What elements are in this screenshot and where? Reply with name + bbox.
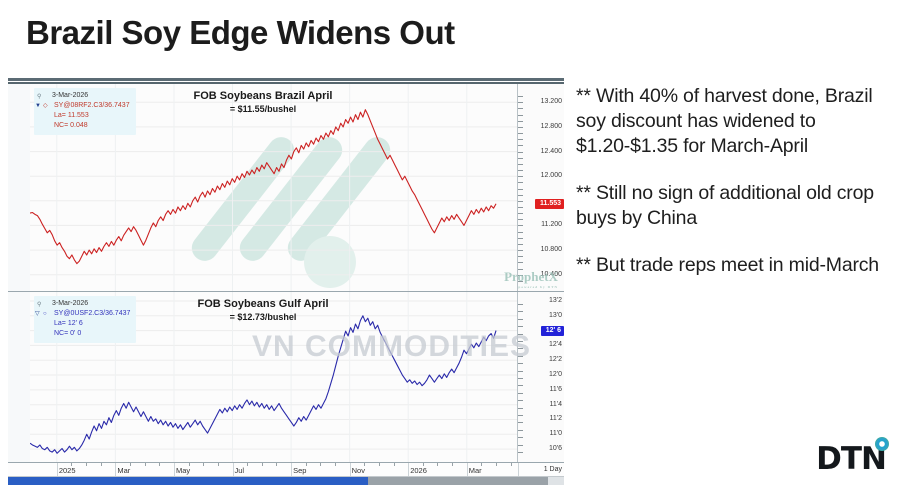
x-minor-tick bbox=[130, 463, 131, 466]
y-axis-gulf[interactable]: 13'213'012'412'212'011'611'411'211'010'6… bbox=[517, 292, 564, 462]
x-minor-tick bbox=[511, 463, 512, 466]
x-minor-tick bbox=[423, 463, 424, 466]
scrollbar-track-filled[interactable] bbox=[368, 477, 548, 485]
y-tick-mark bbox=[518, 201, 523, 202]
info-box-brazil[interactable]: ⚲ ▼ ◇ 3-Mar-2026 SY@08RF2.C3/36.7437 La=… bbox=[34, 88, 136, 135]
x-tick-separator bbox=[408, 463, 409, 477]
y-tick-label: 11'6 bbox=[550, 386, 563, 394]
x-tick-label: May bbox=[176, 466, 190, 475]
y-tick-mark bbox=[518, 385, 523, 386]
panel-left-gutter-gulf bbox=[8, 292, 31, 462]
x-minor-tick bbox=[452, 463, 453, 466]
x-tick-label: Mar bbox=[469, 466, 482, 475]
x-tick-separator bbox=[174, 463, 175, 477]
x-tick-separator bbox=[57, 463, 58, 477]
y-tick-label: 11'4 bbox=[550, 401, 563, 409]
y-tick-mark bbox=[518, 326, 523, 327]
x-axis-interval-separator bbox=[518, 463, 519, 477]
x-minor-tick bbox=[262, 463, 263, 466]
x-tick-separator bbox=[115, 463, 116, 477]
y-tick-mark bbox=[518, 378, 523, 379]
chart-panel-brazil[interactable]: 13.20012.80012.40012.00011.20010.80010.4… bbox=[8, 84, 564, 292]
y-tick-mark bbox=[518, 371, 523, 372]
y-tick-mark bbox=[518, 145, 523, 146]
y-tick-mark bbox=[518, 319, 523, 320]
commentary-note: ** Still no sign of additional old crop … bbox=[576, 181, 888, 231]
x-minor-tick bbox=[437, 463, 438, 466]
x-minor-tick bbox=[189, 463, 190, 466]
x-minor-tick bbox=[86, 463, 87, 466]
y-tick-mark bbox=[518, 176, 523, 177]
y-tick-mark bbox=[518, 152, 523, 153]
quote-date-gulf: 3-Mar-2026 bbox=[38, 299, 130, 309]
y-tick-mark bbox=[518, 445, 523, 446]
panel-left-gutter-brazil bbox=[8, 84, 31, 291]
y-tick-mark bbox=[518, 133, 523, 134]
prophetx-chart-window[interactable]: 13.20012.80012.40012.00011.20010.80010.4… bbox=[8, 82, 564, 483]
y-tick-mark bbox=[518, 311, 523, 312]
y-tick-label: 10.800 bbox=[541, 246, 562, 254]
y-tick-mark bbox=[518, 158, 523, 159]
y-tick-mark bbox=[518, 408, 523, 409]
y-tick-mark bbox=[518, 213, 523, 214]
y-tick-mark bbox=[518, 430, 523, 431]
horizontal-scrollbar[interactable] bbox=[8, 476, 564, 485]
x-minor-tick bbox=[101, 463, 102, 466]
series-marker-icon: ◇ bbox=[43, 101, 48, 111]
x-minor-tick bbox=[145, 463, 146, 466]
y-tick-label: 12'4 bbox=[549, 341, 562, 349]
net-change-gulf: NC= 0' 0 bbox=[38, 329, 130, 339]
interval-label[interactable]: 1 Day bbox=[544, 466, 562, 473]
y-tick-mark bbox=[518, 250, 523, 251]
prophetx-watermark-sub: powered by DTN bbox=[504, 285, 558, 289]
x-tick-label: Jul bbox=[235, 466, 245, 475]
y-tick-mark bbox=[518, 115, 523, 116]
prophetx-watermark: ProphetX powered by DTN bbox=[504, 269, 558, 289]
y-tick-mark bbox=[518, 225, 523, 226]
x-minor-tick bbox=[320, 463, 321, 466]
x-minor-tick bbox=[379, 463, 380, 466]
x-tick-separator bbox=[350, 463, 351, 477]
chart-panel-gulf[interactable]: 13'213'012'412'212'011'611'411'211'010'6… bbox=[8, 292, 564, 462]
x-minor-tick bbox=[71, 463, 72, 466]
x-minor-tick bbox=[364, 463, 365, 466]
y-tick-mark bbox=[518, 207, 523, 208]
y-tick-mark bbox=[518, 96, 523, 97]
y-tick-mark bbox=[518, 164, 523, 165]
net-change-brazil: NC= 0.048 bbox=[38, 121, 130, 131]
y-tick-mark bbox=[518, 195, 523, 196]
y-tick-mark bbox=[518, 437, 523, 438]
y-tick-mark bbox=[518, 121, 523, 122]
quote-date-brazil: 3-Mar-2026 bbox=[38, 91, 130, 101]
y-tick-mark bbox=[518, 422, 523, 423]
x-minor-tick bbox=[247, 463, 248, 466]
y-tick-mark bbox=[518, 127, 523, 128]
x-minor-tick bbox=[276, 463, 277, 466]
x-tick-separator bbox=[233, 463, 234, 477]
y-tick-mark bbox=[518, 170, 523, 171]
commentary-note: ** But trade reps meet in mid-March bbox=[576, 253, 888, 278]
y-tick-mark bbox=[518, 400, 523, 401]
x-tick-label: Sep bbox=[293, 466, 306, 475]
y-tick-mark bbox=[518, 415, 523, 416]
y-tick-mark bbox=[518, 189, 523, 190]
collapse-triangle-icon[interactable]: ▼ bbox=[35, 101, 41, 111]
y-tick-label: 13'0 bbox=[549, 312, 562, 320]
y-tick-label: 13.200 bbox=[541, 98, 562, 106]
y-tick-mark bbox=[518, 182, 523, 183]
x-minor-tick bbox=[335, 463, 336, 466]
y-tick-mark bbox=[518, 341, 523, 342]
x-minor-tick bbox=[481, 463, 482, 466]
y-tick-mark bbox=[518, 244, 523, 245]
y-tick-label: 11.200 bbox=[541, 221, 562, 229]
y-tick-label: 11'2 bbox=[550, 415, 563, 423]
y-tick-mark bbox=[518, 232, 523, 233]
y-tick-mark bbox=[518, 304, 523, 305]
x-tick-separator bbox=[467, 463, 468, 477]
y-tick-label: 13'2 bbox=[549, 297, 562, 305]
x-axis[interactable]: 1 Day 2025MarMayJulSepNov2026Mar bbox=[8, 462, 564, 477]
y-axis-brazil[interactable]: 13.20012.80012.40012.00011.20010.80010.4… bbox=[517, 84, 564, 291]
symbol-code-brazil[interactable]: SY@08RF2.C3/36.7437 bbox=[38, 101, 130, 111]
y-tick-label: 12'0 bbox=[549, 371, 562, 379]
y-tick-mark bbox=[518, 363, 523, 364]
y-tick-mark bbox=[518, 256, 523, 257]
slide-root: Brazil Soy Edge Widens Out 13.20012.8001… bbox=[0, 0, 900, 491]
y-tick-mark bbox=[518, 108, 523, 109]
y-tick-mark bbox=[518, 102, 523, 103]
y-tick-label: 12'2 bbox=[549, 356, 562, 364]
y-tick-mark bbox=[518, 393, 523, 394]
x-tick-label: Mar bbox=[117, 466, 130, 475]
x-tick-label: 2026 bbox=[410, 466, 427, 475]
y-tick-mark bbox=[518, 452, 523, 453]
scrollbar-thumb[interactable] bbox=[8, 477, 368, 485]
page-title: Brazil Soy Edge Widens Out bbox=[26, 14, 455, 52]
x-minor-tick bbox=[306, 463, 307, 466]
y-tick-mark bbox=[518, 348, 523, 349]
info-box-gulf[interactable]: ⚲ ▽ ○ 3-Mar-2026 SY@0USF2.C3/36.7437 La=… bbox=[34, 296, 136, 343]
commentary-panel: ** With 40% of harvest done, Brazil soy … bbox=[576, 84, 888, 278]
symbol-code-gulf[interactable]: SY@0USF2.C3/36.7437 bbox=[38, 309, 130, 319]
y-tick-mark bbox=[518, 219, 523, 220]
y-tick-mark bbox=[518, 238, 523, 239]
y-tick-mark bbox=[518, 139, 523, 140]
x-tick-separator bbox=[291, 463, 292, 477]
y-tick-mark bbox=[518, 334, 523, 335]
last-price-brazil: La= 11.553 bbox=[38, 111, 130, 121]
y-tick-label: 10'6 bbox=[549, 445, 562, 453]
y-tick-label: 12.800 bbox=[541, 123, 562, 131]
last-price-badge-brazil: 11.553 bbox=[535, 199, 564, 209]
x-minor-tick bbox=[394, 463, 395, 466]
y-tick-label: 11'0 bbox=[550, 430, 563, 438]
y-tick-label: 12.400 bbox=[541, 148, 562, 156]
x-minor-tick bbox=[496, 463, 497, 466]
x-minor-tick bbox=[203, 463, 204, 466]
x-minor-tick bbox=[159, 463, 160, 466]
y-tick-label: 12.000 bbox=[541, 172, 562, 180]
x-tick-label: 2025 bbox=[59, 466, 76, 475]
x-tick-label: Nov bbox=[352, 466, 365, 475]
dtn-logo-dot-icon bbox=[875, 437, 889, 451]
last-price-badge-gulf: 12' 6 bbox=[541, 326, 564, 336]
y-tick-mark bbox=[518, 262, 523, 263]
commentary-note: ** With 40% of harvest done, Brazil soy … bbox=[576, 84, 888, 159]
series-marker-icon: ○ bbox=[43, 309, 47, 319]
dtn-logo: DTN bbox=[816, 441, 886, 477]
title-divider bbox=[8, 78, 564, 81]
last-price-gulf: La= 12' 6 bbox=[38, 319, 130, 329]
y-tick-mark bbox=[518, 356, 523, 357]
x-minor-tick bbox=[218, 463, 219, 466]
collapse-triangle-icon[interactable]: ▽ bbox=[35, 309, 40, 319]
